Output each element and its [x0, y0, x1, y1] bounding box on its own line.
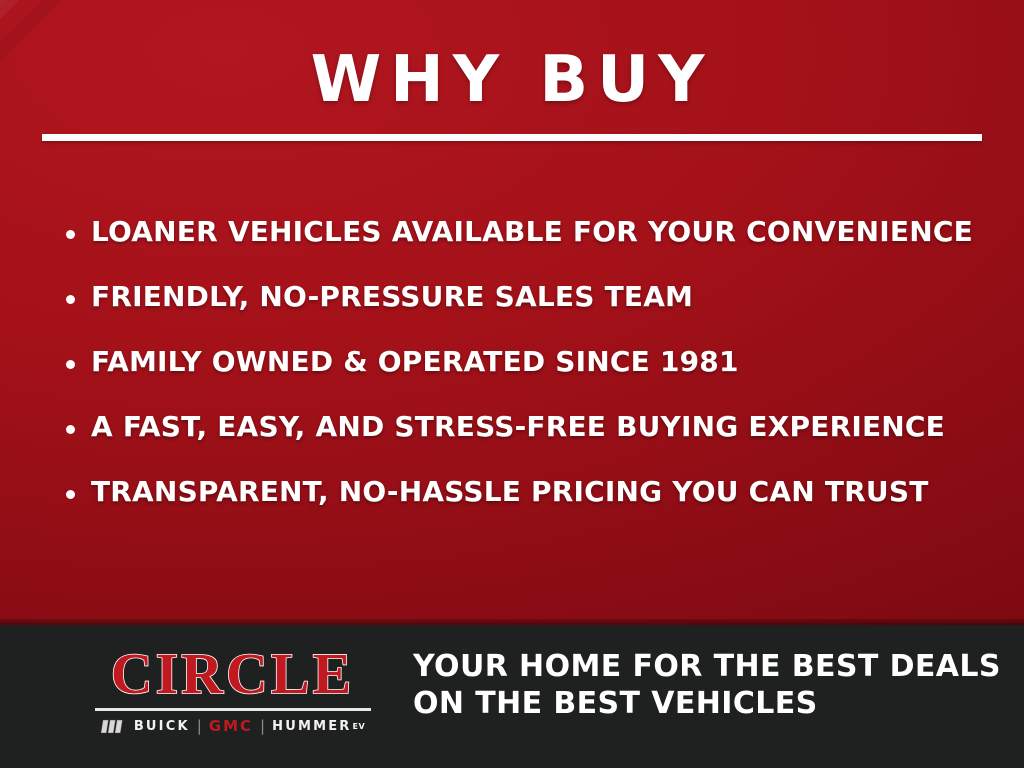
- list-item: • TRANSPARENT, NO-HASSLE PRICING YOU CAN…: [66, 474, 986, 539]
- benefits-list: • LOANER VEHICLES AVAILABLE FOR YOUR CON…: [66, 214, 986, 539]
- brand-hummer-label: HUMMER: [272, 719, 351, 734]
- list-item: • LOANER VEHICLES AVAILABLE FOR YOUR CON…: [66, 214, 986, 279]
- tagline-line-2: ON THE BEST VEHICLES: [413, 685, 1003, 722]
- list-item-label: A FAST, EASY, AND STRESS-FREE BUYING EXP…: [91, 409, 986, 445]
- tagline-line-1: YOUR HOME FOR THE BEST DEALS: [413, 648, 1003, 685]
- bullet-dot-icon: •: [66, 230, 75, 239]
- logo-divider: [95, 708, 371, 711]
- title-divider: [42, 134, 982, 141]
- list-item-label: LOANER VEHICLES AVAILABLE FOR YOUR CONVE…: [91, 214, 986, 250]
- list-item-label: FAMILY OWNED & OPERATED SINCE 1981: [91, 344, 986, 380]
- list-item: • A FAST, EASY, AND STRESS-FREE BUYING E…: [66, 409, 986, 474]
- brand-strip: BUICK | GMC | HUMMER EV: [85, 717, 380, 735]
- brand-hummer-ev-suffix: EV: [353, 722, 366, 731]
- brand-gmc-label: GMC: [209, 719, 253, 734]
- bullet-dot-icon: •: [66, 295, 75, 304]
- list-item-label: FRIENDLY, NO-PRESSURE SALES TEAM: [91, 279, 986, 315]
- why-buy-slide: WHY BUY • LOANER VEHICLES AVAILABLE FOR …: [0, 0, 1024, 768]
- brand-buick-label: BUICK: [134, 719, 190, 734]
- dealership-logo: CIRCLE BUICK | GMC | HUMMER EV: [85, 645, 380, 735]
- logo-wordmark: CIRCLE: [85, 645, 380, 703]
- brand-separator: |: [260, 719, 265, 734]
- buick-tri-shield-icon: [100, 719, 126, 734]
- bullet-dot-icon: •: [66, 360, 75, 369]
- footer-tagline: YOUR HOME FOR THE BEST DEALS ON THE BEST…: [413, 648, 1003, 722]
- list-item: • FRIENDLY, NO-PRESSURE SALES TEAM: [66, 279, 986, 344]
- list-item: • FAMILY OWNED & OPERATED SINCE 1981: [66, 344, 986, 409]
- bullet-dot-icon: •: [66, 490, 75, 499]
- bullet-dot-icon: •: [66, 425, 75, 434]
- page-title: WHY BUY: [0, 44, 1024, 116]
- list-item-label: TRANSPARENT, NO-HASSLE PRICING YOU CAN T…: [91, 474, 986, 510]
- brand-separator: |: [197, 719, 202, 734]
